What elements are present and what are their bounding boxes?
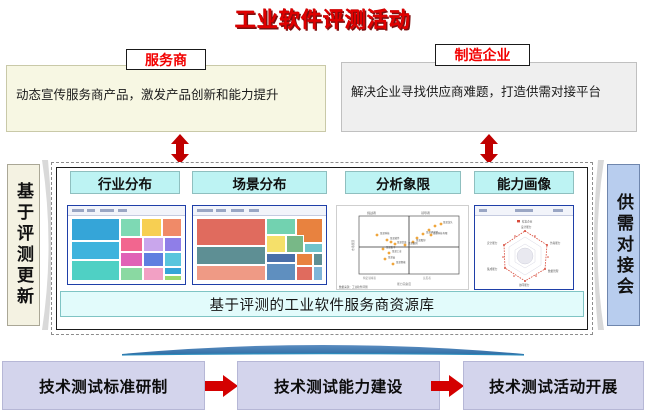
chart-industry-treemap[interactable] bbox=[67, 205, 186, 285]
svg-text:某某软件: 某某软件 bbox=[390, 236, 400, 240]
svg-text:某某科技: 某某科技 bbox=[380, 231, 390, 235]
treemap-tiles bbox=[196, 218, 323, 281]
svg-text:某某龙头: 某某龙头 bbox=[443, 220, 453, 224]
sidebar-left-update[interactable]: 基于评测更新 bbox=[7, 164, 40, 326]
svg-text:某某智能: 某某智能 bbox=[396, 260, 406, 264]
svg-text:某某工业: 某某工业 bbox=[392, 249, 402, 253]
flow-step-0[interactable]: 技术测试标准研制 bbox=[2, 361, 205, 410]
svg-text:设计能力: 设计能力 bbox=[521, 225, 532, 229]
quadrant-scatter-svg: 挑战者 领导者 特定领域者 远见者 市场表现 能力完备度 某某科技某某 bbox=[337, 206, 469, 290]
chart-window-bar bbox=[475, 206, 573, 216]
section-heading-capability[interactable]: 能力画像 bbox=[474, 171, 574, 194]
flow-arrow-1-icon bbox=[431, 374, 464, 398]
svg-text:仿真能力: 仿真能力 bbox=[550, 241, 561, 245]
chart-window-bar bbox=[68, 206, 185, 216]
manufacturing-enterprise-text: 解决企业寻找供应商难题，打造供需对接平台 bbox=[351, 83, 629, 102]
resource-library-bar[interactable]: 基于评测的工业软件服务商资源库 bbox=[60, 291, 584, 317]
radar-legend: 样本企业 bbox=[517, 219, 533, 223]
svg-text:某某数字: 某某数字 bbox=[386, 245, 396, 249]
section-heading-industry[interactable]: 行业分布 bbox=[70, 171, 180, 194]
svg-text:安全能力: 安全能力 bbox=[487, 241, 498, 245]
svg-text:市场表现: 市场表现 bbox=[351, 240, 355, 251]
treemap-tiles bbox=[71, 218, 182, 281]
sidebar-right-matchmaking[interactable]: 供需对接会 bbox=[607, 164, 640, 326]
svg-text:挑战者: 挑战者 bbox=[367, 210, 376, 215]
svg-text:远见者: 远见者 bbox=[423, 276, 431, 280]
svg-text:样本企业: 样本企业 bbox=[522, 219, 533, 223]
svg-text:集成能力: 集成能力 bbox=[487, 267, 498, 271]
manufacturing-enterprise-panel[interactable]: 解决企业寻找供应商难题，打造供需对接平台 bbox=[341, 62, 637, 132]
svg-text:领导者: 领导者 bbox=[421, 210, 430, 215]
chart-window-bar bbox=[193, 206, 326, 216]
svg-text:某某云: 某某云 bbox=[388, 255, 396, 259]
flow-step-1[interactable]: 技术测试能力建设 bbox=[237, 361, 440, 410]
page-title: 工业软件评测活动 bbox=[0, 4, 646, 34]
svg-text:某某科技有限: 某某科技有限 bbox=[433, 231, 448, 235]
chart-quadrant-scatter[interactable]: 挑战者 领导者 特定领域者 远见者 市场表现 能力完备度 某某科技某某 bbox=[336, 205, 469, 290]
flow-arrow-0-icon bbox=[205, 374, 238, 398]
svg-text:能力完备度: 能力完备度 bbox=[397, 282, 411, 286]
svg-text:协同能力: 协同能力 bbox=[519, 283, 530, 287]
slide-canvas: 工业软件评测活动 动态宣传服务商产品，激发产品创新和能力提升 服务商 解决企业寻… bbox=[0, 0, 646, 414]
service-provider-panel[interactable]: 动态宣传服务商产品，激发产品创新和能力提升 bbox=[6, 65, 326, 132]
section-heading-scenario[interactable]: 场景分布 bbox=[192, 171, 327, 194]
double-arrow-right-icon bbox=[478, 134, 500, 164]
service-provider-text: 动态宣传服务商产品，激发产品创新和能力提升 bbox=[16, 86, 318, 105]
chart-scenario-treemap[interactable] bbox=[192, 205, 327, 285]
service-provider-chip[interactable]: 服务商 bbox=[126, 49, 206, 70]
svg-text:数据来源：工业软件评测: 数据来源：工业软件评测 bbox=[339, 285, 368, 289]
manufacturing-enterprise-chip[interactable]: 制造企业 bbox=[435, 44, 530, 66]
radar-svg: 设计能力仿真能力 数据管理协同能力 集成能力安全能力 样本企业 bbox=[475, 217, 574, 289]
chart-capability-radar[interactable]: 设计能力仿真能力 数据管理协同能力 集成能力安全能力 样本企业 bbox=[474, 205, 574, 290]
section-heading-quadrant[interactable]: 分析象限 bbox=[345, 171, 461, 194]
lens-divider-shape bbox=[122, 338, 524, 356]
double-arrow-left-icon bbox=[169, 134, 191, 164]
svg-text:某某信息: 某某信息 bbox=[397, 240, 407, 244]
svg-text:某某股份: 某某股份 bbox=[416, 238, 426, 242]
svg-text:特定领域者: 特定领域者 bbox=[363, 276, 376, 280]
svg-text:数据管理: 数据管理 bbox=[548, 269, 559, 273]
flow-step-2[interactable]: 技术测试活动开展 bbox=[463, 361, 644, 410]
